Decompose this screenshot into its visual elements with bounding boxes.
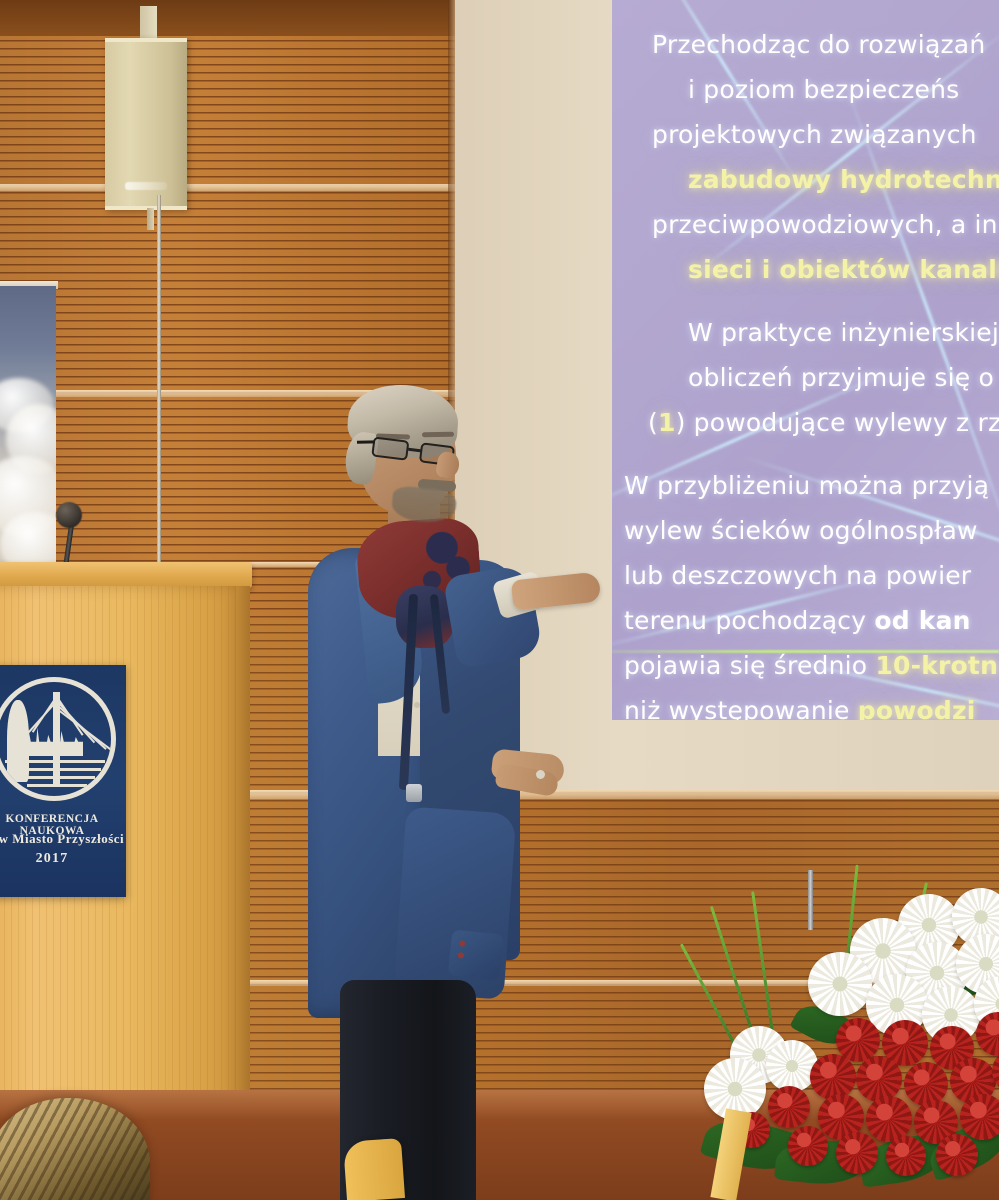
slide-text-segment: pojawia się średnio bbox=[624, 651, 875, 680]
slide-text-segment: Przechodząc do rozwiązań bbox=[652, 30, 985, 59]
plaque-line-2: szów Miasto Przyszłości bbox=[0, 831, 126, 847]
slide-text-segment: 10-krotn bbox=[875, 651, 998, 680]
plaque-line-3: 2017 bbox=[0, 851, 126, 867]
slide-line: sieci i obiektów kanaliza bbox=[612, 247, 999, 292]
grass-blade-2 bbox=[751, 891, 775, 1040]
flower-arrangement bbox=[690, 890, 999, 1200]
water-line-1 bbox=[5, 760, 105, 763]
slide-text-segment: terenu pochodzący bbox=[624, 606, 874, 635]
red-flower-16 bbox=[788, 1126, 828, 1166]
slide-text-segment: sieci i obiektów kanaliza bbox=[688, 255, 999, 284]
water-line-4 bbox=[27, 784, 87, 787]
slide-line: przeciwpowodziowych, a in bbox=[612, 202, 999, 247]
slide-line: wylew ścieków ogólnospław bbox=[612, 508, 999, 553]
vertical-pole bbox=[157, 195, 161, 575]
slide-text-segment: projektowych związanych bbox=[652, 120, 977, 149]
red-flower-17 bbox=[836, 1132, 878, 1174]
wall-trim-band-1 bbox=[0, 184, 460, 191]
glasses-temple bbox=[357, 440, 375, 443]
podium-top-surface bbox=[0, 562, 252, 588]
slide-paragraph-gap bbox=[612, 445, 999, 463]
chair-back bbox=[343, 1138, 405, 1200]
projection-screen: Przechodząc do rozwiązańi poziom bezpiec… bbox=[612, 0, 999, 720]
slide-text-segment: W przybliżeniu można przyją bbox=[624, 471, 989, 500]
slide-text-block: Przechodząc do rozwiązańi poziom bezpiec… bbox=[612, 0, 999, 720]
slide-text-segment: niż występowanie bbox=[624, 696, 858, 720]
slide-line: projektowych związanych bbox=[612, 112, 999, 157]
speaker-stem bbox=[147, 208, 154, 230]
slide-text-segment: ( bbox=[648, 408, 658, 437]
presenter bbox=[300, 380, 590, 1200]
slide-line: W przybliżeniu można przyją bbox=[612, 463, 999, 508]
red-flower-19 bbox=[936, 1134, 978, 1176]
microphone-icon bbox=[56, 502, 82, 528]
red-flower-5 bbox=[810, 1054, 856, 1100]
slide-line: lub deszczowych na powier bbox=[612, 553, 999, 598]
red-flower-6 bbox=[856, 1056, 902, 1102]
logo-circle-emblem bbox=[0, 677, 116, 801]
speaker-mount-bracket bbox=[140, 6, 157, 42]
conference-photo-scene: Przechodząc do rozwiązańi poziom bezpiec… bbox=[0, 0, 999, 1200]
wall-top-shadow-band bbox=[0, 0, 460, 36]
slide-line: Przechodząc do rozwiązań bbox=[612, 22, 999, 67]
slide-text-segment: przeciwpowodziowych, a in bbox=[652, 210, 998, 239]
glasses-bridge bbox=[408, 448, 421, 452]
conference-logo-plaque: KONFERENCJA NAUKOWA szów Miasto Przyszło… bbox=[0, 665, 126, 897]
speaker-brand-logo bbox=[125, 182, 167, 190]
jacket-cuff-lower bbox=[448, 929, 505, 980]
eyebrow-right bbox=[422, 432, 454, 438]
slide-line: (1) powodujące wylewy z rz bbox=[612, 400, 999, 445]
slide-line: terenu pochodzący od kan bbox=[612, 598, 999, 643]
slide-line: i poziom bezpieczeńs bbox=[612, 67, 999, 112]
slide-line: W praktyce inżynierskiej bbox=[612, 310, 999, 355]
water-line-3 bbox=[17, 776, 95, 779]
badge-clip-icon bbox=[406, 784, 422, 802]
slide-paragraph-gap bbox=[612, 292, 999, 310]
water-line-2 bbox=[9, 768, 101, 771]
slide-line: obliczeń przyjmuje się o bbox=[612, 355, 999, 400]
slide-text-segment: W praktyce inżynierskiej bbox=[688, 318, 999, 347]
slide-line: zabudowy hydrotechnicz bbox=[612, 157, 999, 202]
red-flower-10 bbox=[768, 1086, 810, 1128]
cuff-button-1 bbox=[459, 940, 466, 947]
flower-stand-pole bbox=[808, 870, 813, 930]
slide-text-segment: od kan bbox=[874, 606, 970, 635]
slide-text-segment: wylew ścieków ogólnospław bbox=[624, 516, 978, 545]
red-flower-7 bbox=[904, 1062, 948, 1106]
cuff-button-2 bbox=[458, 952, 465, 959]
white-flower-6 bbox=[808, 952, 872, 1016]
ceiling-speaker-icon bbox=[105, 38, 187, 210]
red-flower-14 bbox=[960, 1094, 999, 1140]
glasses-lens-left bbox=[371, 436, 409, 460]
slide-text-segment: zabudowy hydrotechnicz bbox=[688, 165, 999, 194]
slide-text-segment: lub deszczowych na powier bbox=[624, 561, 971, 590]
slide-line: niż występowanie powodzi bbox=[612, 688, 999, 720]
red-flower-18 bbox=[886, 1136, 926, 1176]
slide-text-segment: obliczeń przyjmuje się o bbox=[688, 363, 994, 392]
slide-text-segment: ) powodujące wylewy z rz bbox=[676, 408, 999, 437]
slide-line: pojawia się średnio 10-krotn bbox=[612, 643, 999, 688]
slide-text-segment: 1 bbox=[658, 408, 676, 437]
rollup-banner bbox=[0, 286, 56, 576]
slide-text-segment: powodzi bbox=[858, 696, 976, 720]
ring-icon bbox=[536, 770, 545, 779]
slide-text-segment: i poziom bezpieczeńs bbox=[688, 75, 959, 104]
